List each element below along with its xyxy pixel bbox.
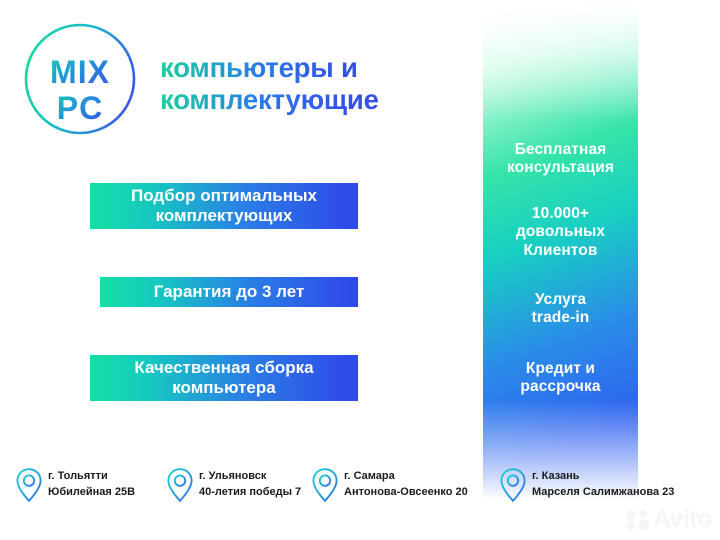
location-address: 40-летия победы 7 (199, 485, 301, 501)
benefit-line: Услуга (483, 291, 638, 309)
poster-canvas: Бесплатная консультация 10.000+ довольны… (0, 0, 720, 540)
headline: компьютеры и комплектующие (160, 52, 470, 117)
benefit-item: Кредит и рассрочка (483, 360, 638, 397)
location-item: г. Казань Марселя Салимжанова 23 (498, 466, 674, 504)
benefit-item: Бесплатная консультация (483, 141, 638, 178)
benefit-line: Кредит и (483, 360, 638, 378)
feature-banner-optimal-parts: Подбор оптимальных комплектующих (90, 183, 358, 229)
feature-line: Качественная сборка (134, 358, 313, 378)
headline-line-2: комплектующие (160, 84, 470, 116)
location-address: Юбилейная 25В (48, 485, 135, 501)
location-address: Марселя Салимжанова 23 (532, 485, 674, 501)
benefit-line: Клиентов (483, 242, 638, 260)
logo-top-text: MIX (50, 54, 110, 90)
logo-bottom-text: PC (57, 90, 103, 126)
map-pin-icon (165, 466, 195, 504)
feature-line: комплектующих (131, 206, 317, 226)
location-city: г. Ульяновск (199, 469, 301, 485)
benefit-line: trade-in (483, 309, 638, 327)
avito-watermark: Avito (625, 505, 712, 534)
feature-banner-quality-build: Качественная сборка компьютера (90, 355, 358, 401)
benefit-item: 10.000+ довольных Клиентов (483, 205, 638, 260)
benefit-line: 10.000+ (483, 205, 638, 223)
feature-line: Гарантия до 3 лет (154, 282, 305, 302)
map-pin-icon (498, 466, 528, 504)
feature-line: компьютера (134, 378, 313, 398)
benefit-line: рассрочка (483, 378, 638, 396)
location-item: г. Тольятти Юбилейная 25В (14, 466, 135, 504)
location-item: г. Ульяновск 40-летия победы 7 (165, 466, 301, 504)
benefit-line: довольных (483, 223, 638, 241)
map-pin-icon (310, 466, 340, 504)
location-city: г. Тольятти (48, 469, 135, 485)
mixpc-logo-icon: MIX PC (22, 21, 138, 137)
map-pin-icon (14, 466, 44, 504)
location-city: г. Казань (532, 469, 674, 485)
feature-line: Подбор оптимальных (131, 186, 317, 206)
benefits-panel: Бесплатная консультация 10.000+ довольны… (483, 0, 638, 540)
benefit-line: Бесплатная (483, 141, 638, 159)
avito-logo-icon (625, 509, 651, 531)
feature-banner-warranty: Гарантия до 3 лет (100, 277, 358, 307)
benefit-item: Услуга trade-in (483, 291, 638, 328)
location-item: г. Самара Антонова-Овсеенко 20 (310, 466, 468, 504)
location-city: г. Самара (344, 469, 468, 485)
headline-line-1: компьютеры и (160, 52, 470, 84)
avito-watermark-label: Avito (653, 505, 712, 534)
benefit-line: консультация (483, 159, 638, 177)
location-address: Антонова-Овсеенко 20 (344, 485, 468, 501)
